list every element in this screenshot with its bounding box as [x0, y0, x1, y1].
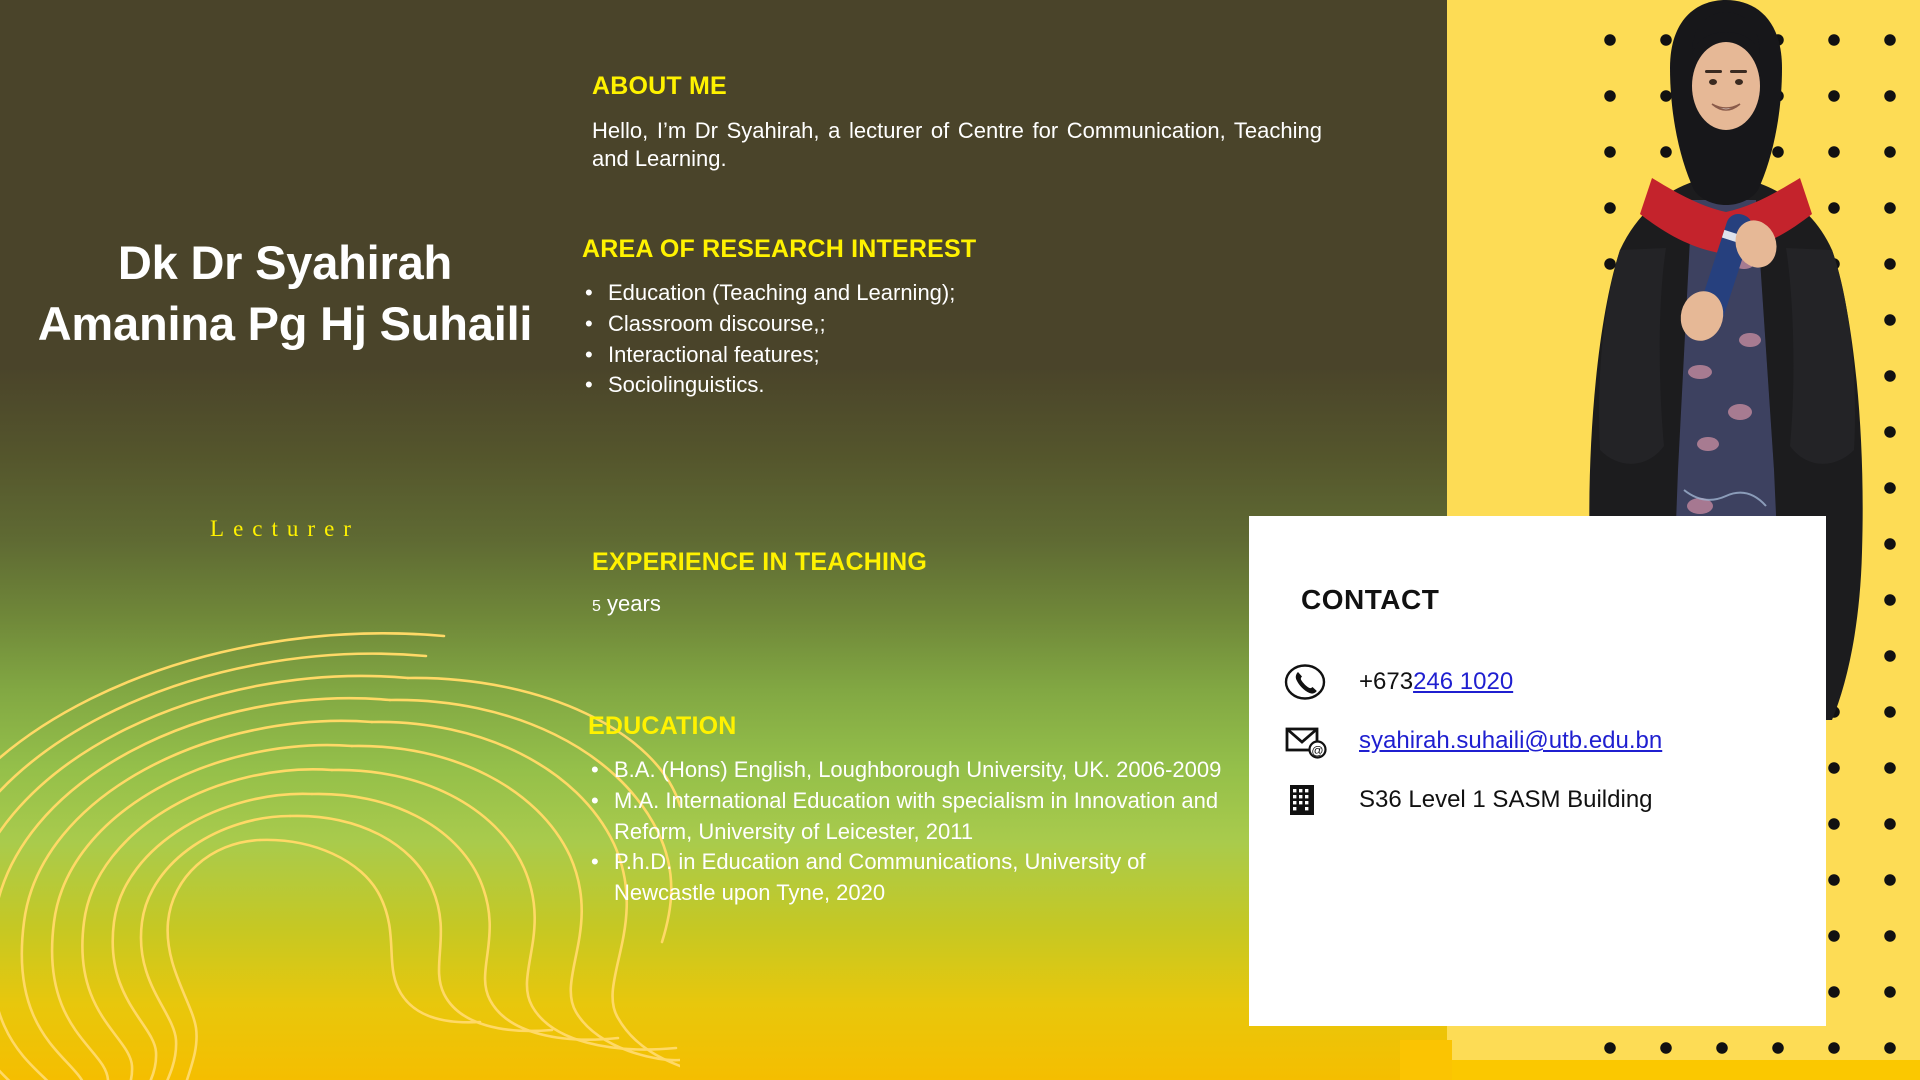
education-section: EDUCATION B.A. (Hons) English, Loughboro…	[588, 712, 1248, 909]
contact-address-text: S36 Level 1 SASM Building	[1359, 786, 1653, 814]
research-interest-section: AREA OF RESEARCH INTEREST Education (Tea…	[582, 235, 1002, 401]
about-me-paragraph: Hello, I’m Dr Syahirah, a lecturer of Ce…	[592, 117, 1322, 173]
experience-section: EXPERIENCE IN TEACHING 5 years	[592, 548, 1152, 617]
contact-title: CONTACT	[1301, 584, 1439, 616]
list-item: Education (Teaching and Learning);	[582, 278, 1002, 309]
person-name: Dk Dr Syahirah Amanina Pg Hj Suhaili	[30, 232, 540, 354]
email-link[interactable]: syahirah.suhaili@utb.edu.bn	[1359, 727, 1662, 754]
email-icon: @	[1283, 719, 1339, 763]
experience-value: 5 years	[592, 591, 1152, 617]
contact-email-text: syahirah.suhaili@utb.edu.bn	[1359, 727, 1662, 755]
phone-link[interactable]: 246 1020	[1413, 668, 1513, 695]
contact-row-phone[interactable]: +673246 1020	[1283, 660, 1513, 704]
experience-unit: years	[601, 591, 661, 616]
list-item: Interactional features;	[582, 340, 1002, 371]
phone-icon	[1283, 660, 1339, 704]
person-role: Lecturer	[30, 516, 540, 542]
experience-number: 5	[592, 598, 601, 615]
contact-row-email[interactable]: @ syahirah.suhaili@utb.edu.bn	[1283, 719, 1662, 763]
profile-slide: Dk Dr Syahirah Amanina Pg Hj Suhaili Lec…	[0, 0, 1920, 1080]
list-item: M.A. International Education with specia…	[588, 786, 1248, 848]
about-me-title: ABOUT ME	[592, 72, 1322, 101]
yellow-corner-accent	[1400, 1040, 1452, 1080]
list-item: Classroom discourse,;	[582, 309, 1002, 340]
education-list: B.A. (Hons) English, Loughborough Univer…	[588, 755, 1248, 909]
yellow-bottom-strip	[1447, 1060, 1920, 1080]
contact-row-address: S36 Level 1 SASM Building	[1283, 778, 1653, 822]
list-item: B.A. (Hons) English, Loughborough Univer…	[588, 755, 1248, 786]
contact-card: CONTACT +673246 1020 @ syahirah.suhaili@…	[1249, 516, 1826, 1026]
research-interest-list: Education (Teaching and Learning); Class…	[582, 278, 1002, 401]
building-icon	[1283, 778, 1339, 822]
list-item: Sociolinguistics.	[582, 370, 1002, 401]
experience-title: EXPERIENCE IN TEACHING	[592, 548, 1152, 577]
phone-prefix: +673	[1359, 668, 1413, 695]
contact-phone-text: +673246 1020	[1359, 668, 1513, 696]
svg-text:@: @	[1311, 744, 1323, 758]
person-name-block: Dk Dr Syahirah Amanina Pg Hj Suhaili	[30, 232, 540, 354]
research-interest-title: AREA OF RESEARCH INTEREST	[582, 235, 1002, 264]
list-item: P.h.D. in Education and Communications, …	[588, 847, 1248, 909]
education-title: EDUCATION	[588, 712, 1248, 741]
about-me-section: ABOUT ME Hello, I’m Dr Syahirah, a lectu…	[592, 72, 1322, 173]
